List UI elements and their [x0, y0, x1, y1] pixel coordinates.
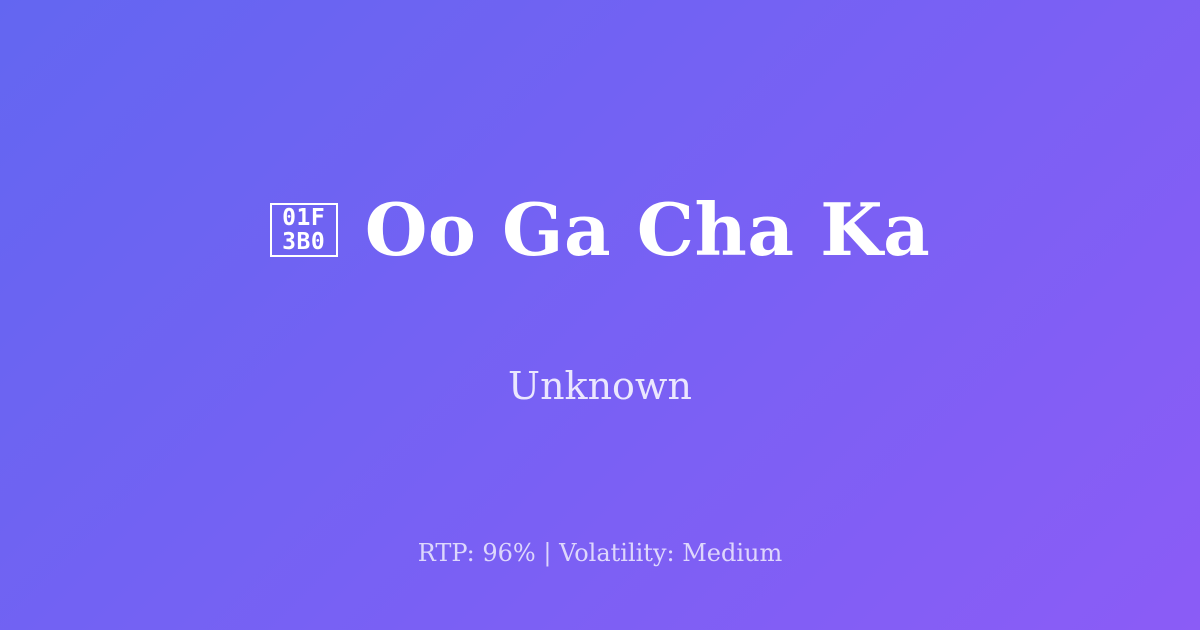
hero-block: 01F 3B0 Oo Ga Cha Ka Unknown: [0, 145, 1200, 410]
tofu-codepoint-top: 01F: [282, 206, 325, 230]
game-meta-line: RTP: 96% | Volatility: Medium: [0, 539, 1200, 568]
tofu-codepoint-bottom: 3B0: [282, 230, 325, 254]
page-subtitle: Unknown: [508, 364, 692, 410]
og-share-card: 01F 3B0 Oo Ga Cha Ka Unknown RTP: 96% | …: [0, 0, 1200, 630]
title-row: 01F 3B0 Oo Ga Cha Ka: [270, 145, 931, 316]
slot-machine-icon: 01F 3B0: [270, 203, 338, 257]
page-title: Oo Ga Cha Ka: [365, 193, 931, 268]
